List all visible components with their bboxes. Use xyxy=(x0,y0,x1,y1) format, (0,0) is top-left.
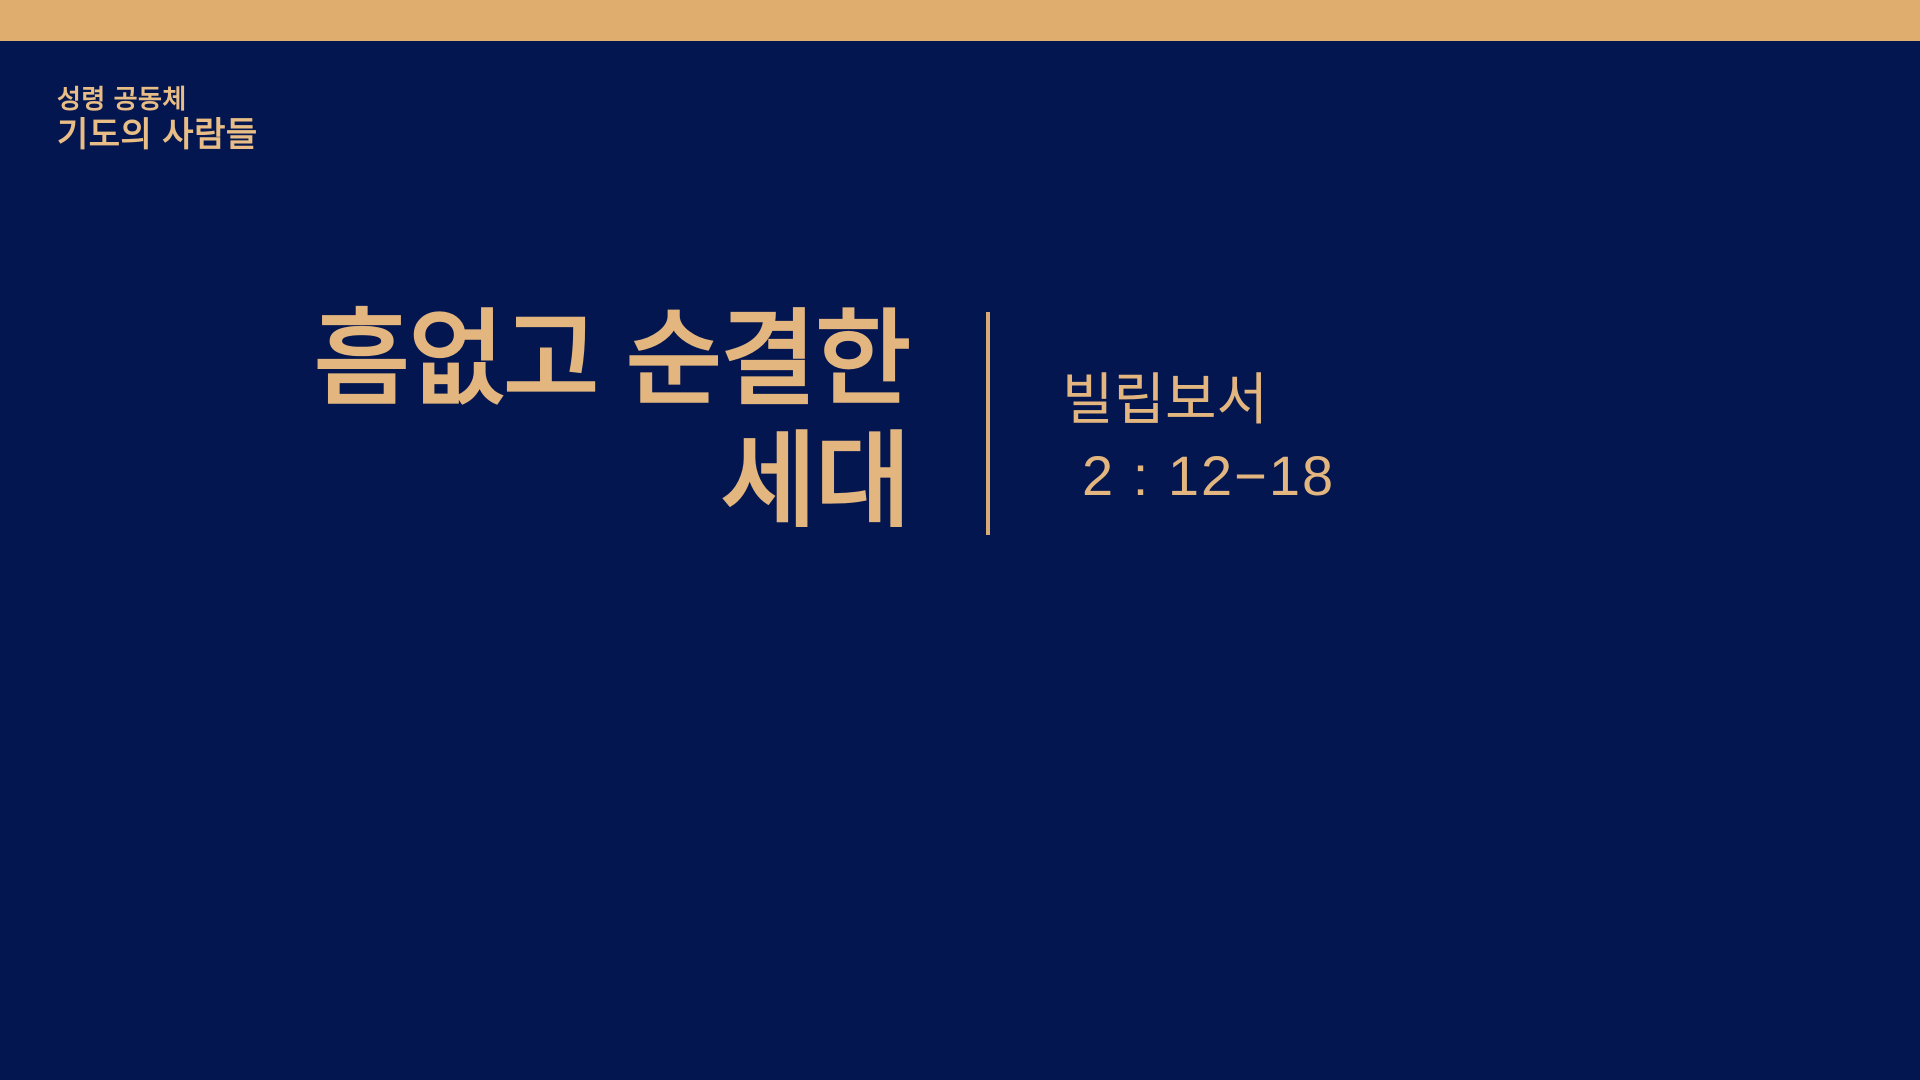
scripture-verse-range: 2 : 12−18 xyxy=(1062,438,1582,514)
ministry-logo: 성령 공동체 기도의 사람들 xyxy=(57,86,477,152)
sermon-title-slide: 성령 공동체 기도의 사람들 흠없고 순결한 세대 빌립보서 2 : 12−18 xyxy=(0,0,1920,1080)
logo-line-secondary: 기도의 사람들 xyxy=(57,118,477,152)
sermon-title-line-1: 흠없고 순결한 xyxy=(0,300,910,422)
top-accent-bar xyxy=(0,0,1920,41)
scripture-book-name: 빌립보서 xyxy=(1062,362,1582,438)
vertical-divider xyxy=(986,312,990,535)
scripture-reference: 빌립보서 2 : 12−18 xyxy=(1062,362,1582,513)
logo-line-primary: 성령 공동체 xyxy=(57,86,477,112)
sermon-title-line-2: 세대 xyxy=(0,422,910,544)
sermon-title: 흠없고 순결한 세대 xyxy=(0,300,910,543)
title-composition: 흠없고 순결한 세대 빌립보서 2 : 12−18 xyxy=(0,300,1920,560)
